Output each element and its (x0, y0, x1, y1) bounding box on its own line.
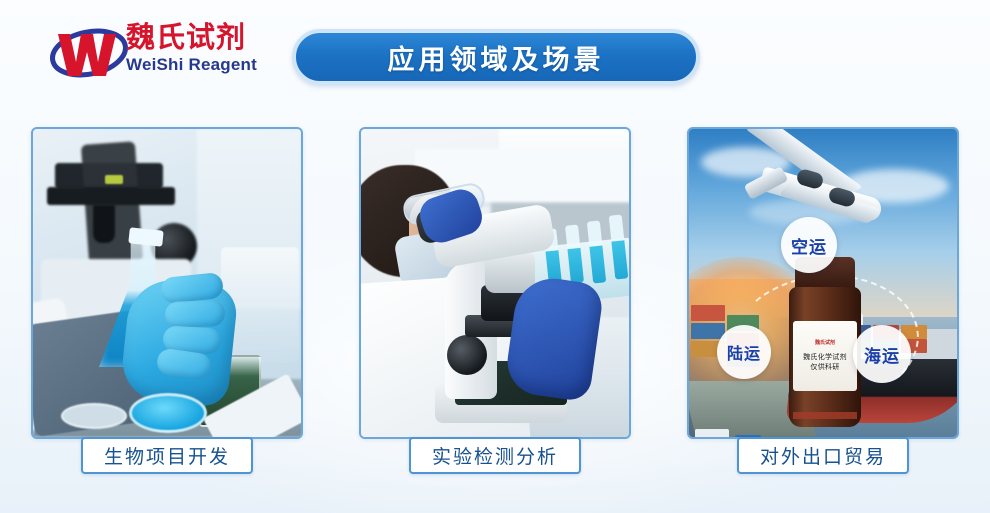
application-cards: 生物项目开发 (0, 0, 990, 513)
card-export-trade[interactable]: 魏氏试剂 魏氏化学试剂 仅供科研 空运 陆运 海运 (687, 127, 959, 439)
bottle-label: 魏氏试剂 魏氏化学试剂 仅供科研 (793, 321, 857, 391)
photo-export-trade: 魏氏试剂 魏氏化学试剂 仅供科研 空运 陆运 海运 (689, 129, 957, 437)
caption-label: 生物项目开发 (104, 442, 230, 469)
bubble-label: 陆运 (727, 340, 761, 364)
caption-export-trade: 对外出口贸易 (737, 437, 909, 474)
bubble-land-freight: 陆运 (717, 325, 771, 379)
caption-lab-testing-analysis: 实验检测分析 (409, 437, 581, 474)
bubble-label: 空运 (791, 233, 827, 258)
card-lab-testing-analysis[interactable] (359, 127, 631, 439)
bubble-air-freight: 空运 (781, 217, 837, 273)
bubble-label: 海运 (864, 342, 900, 367)
bottle-label-line1: 魏氏化学试剂 (803, 353, 847, 363)
caption-label: 实验检测分析 (432, 442, 558, 469)
card-bio-project-development[interactable] (31, 127, 303, 439)
photo-bio-project-development (33, 129, 301, 437)
bubble-sea-freight: 海运 (853, 325, 911, 383)
bottle-brand: 魏氏试剂 (815, 340, 835, 346)
bottle-label-line2: 仅供科研 (810, 363, 839, 373)
caption-label: 对外出口贸易 (760, 442, 886, 469)
caption-bio-project-development: 生物项目开发 (81, 437, 253, 474)
photo-lab-testing-analysis (361, 129, 629, 437)
reagent-bottle: 魏氏试剂 魏氏化学试剂 仅供科研 (787, 257, 865, 427)
